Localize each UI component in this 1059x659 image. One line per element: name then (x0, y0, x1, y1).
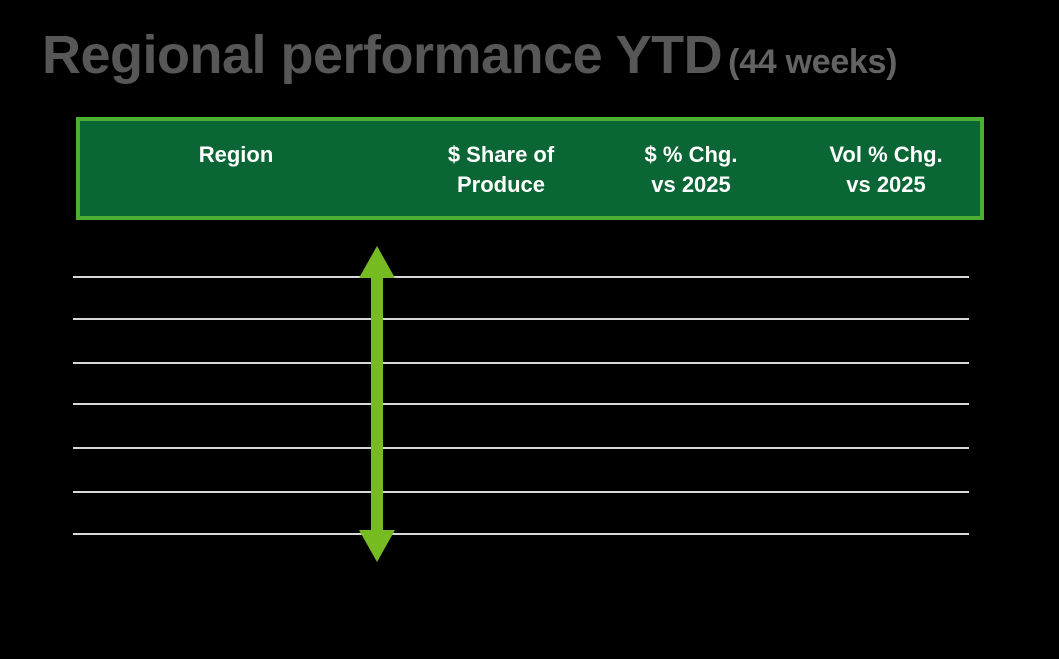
table-row-divider (73, 533, 969, 535)
table-row-divider (73, 276, 969, 278)
double-headed-vertical-arrow-icon (358, 246, 396, 562)
table-row-dividers (0, 0, 1059, 659)
table-row-divider (73, 362, 969, 364)
table-row-divider (73, 318, 969, 320)
table-row-divider (73, 447, 969, 449)
slide-canvas: Regional performance YTD(44 weeks) Regio… (0, 0, 1059, 659)
table-row-divider (73, 403, 969, 405)
table-row-divider (73, 491, 969, 493)
